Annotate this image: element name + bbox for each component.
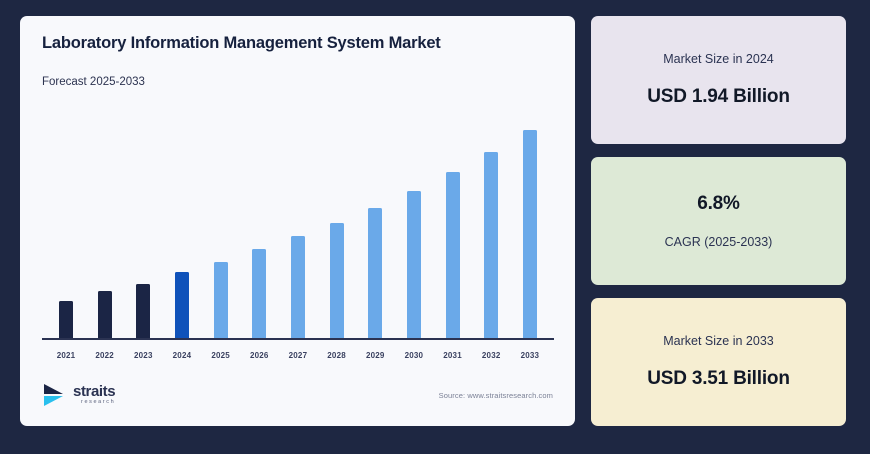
x-tick-2025: 2025 — [203, 351, 239, 360]
bar-slot — [435, 116, 471, 339]
bar-slot — [164, 116, 200, 339]
bar-slot — [319, 116, 355, 339]
panel-footer: straits research Source: www.straitsrese… — [42, 378, 553, 412]
bar-2033 — [523, 130, 537, 339]
brand-logo: straits research — [42, 383, 115, 407]
x-tick-2033: 2033 — [512, 351, 548, 360]
infographic-root: Laboratory Information Management System… — [0, 0, 870, 454]
x-tick-2026: 2026 — [241, 351, 277, 360]
bar-slot — [357, 116, 393, 339]
stat-card-3: Market Size in 2033USD 3.51 Billion — [591, 298, 846, 426]
bar-series — [42, 116, 554, 339]
bar-2029 — [368, 208, 382, 339]
bar-2026 — [252, 249, 266, 339]
bar-2024 — [175, 272, 189, 339]
x-tick-2027: 2027 — [280, 351, 316, 360]
bar-slot — [512, 116, 548, 339]
bar-slot — [125, 116, 161, 339]
bar-chart-plot: 2021202220232024202520262027202820292030… — [42, 116, 554, 356]
bar-slot — [280, 116, 316, 339]
brand-logo-text: straits research — [73, 384, 115, 406]
x-tick-2023: 2023 — [125, 351, 161, 360]
stat-card-list: Market Size in 2024USD 1.94 Billion6.8%C… — [591, 16, 846, 426]
stat-card-label: Market Size in 2024 — [663, 52, 773, 66]
bar-2023 — [136, 284, 150, 339]
bar-2030 — [407, 191, 421, 339]
x-tick-2024: 2024 — [164, 351, 200, 360]
x-tick-2021: 2021 — [48, 351, 84, 360]
stat-card-2: 6.8%CAGR (2025-2033) — [591, 157, 846, 285]
brand-name: straits — [73, 384, 115, 399]
stat-card-label: CAGR (2025-2033) — [665, 235, 773, 249]
stat-card-value: USD 3.51 Billion — [647, 368, 790, 390]
x-tick-2030: 2030 — [396, 351, 432, 360]
x-tick-2029: 2029 — [357, 351, 393, 360]
bar-slot — [473, 116, 509, 339]
stat-card-value: 6.8% — [697, 193, 740, 215]
bar-2025 — [214, 262, 228, 339]
x-axis-line — [42, 338, 554, 340]
x-axis-tick-labels: 2021202220232024202520262027202820292030… — [42, 351, 554, 360]
page-title: Laboratory Information Management System… — [42, 34, 553, 54]
bar-2022 — [98, 291, 112, 339]
stat-card-value: USD 1.94 Billion — [647, 86, 790, 108]
straits-research-arrow-logo-icon — [42, 383, 68, 407]
bar-2031 — [446, 172, 460, 339]
bar-2032 — [484, 152, 498, 339]
chart-panel: Laboratory Information Management System… — [20, 16, 575, 426]
x-tick-2032: 2032 — [473, 351, 509, 360]
x-tick-2028: 2028 — [319, 351, 355, 360]
brand-tagline: research — [73, 400, 115, 406]
x-tick-2022: 2022 — [87, 351, 123, 360]
bar-2028 — [330, 223, 344, 339]
bar-slot — [203, 116, 239, 339]
source-attribution: Source: www.straitsresearch.com — [439, 391, 553, 400]
bar-slot — [241, 116, 277, 339]
x-tick-2031: 2031 — [435, 351, 471, 360]
bar-2027 — [291, 236, 305, 339]
stat-card-1: Market Size in 2024USD 1.94 Billion — [591, 16, 846, 144]
chart-subtitle: Forecast 2025-2033 — [42, 76, 553, 88]
bar-2021 — [59, 301, 73, 339]
bar-slot — [48, 116, 84, 339]
bar-slot — [87, 116, 123, 339]
stat-card-label: Market Size in 2033 — [663, 334, 773, 348]
bar-slot — [396, 116, 432, 339]
